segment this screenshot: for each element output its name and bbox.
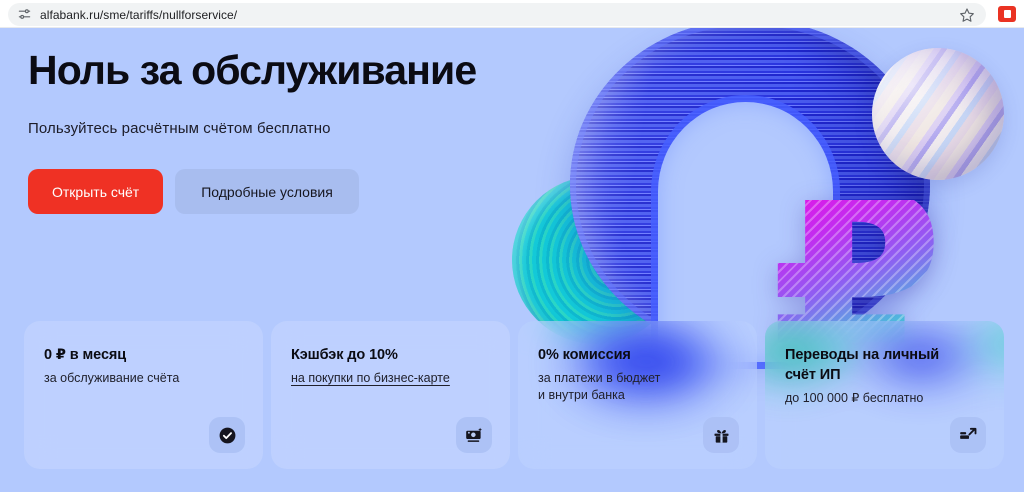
- check-circle-icon[interactable]: [209, 417, 245, 453]
- card-title: 0% комиссия: [538, 345, 737, 365]
- card-subtitle-line1: за платежи в бюджет: [538, 370, 737, 387]
- feature-cards: 0 ₽ в месяц за обслуживание счёта Кэшбэк…: [24, 321, 1004, 469]
- card-title: 0 ₽ в месяц: [44, 345, 243, 365]
- gift-icon[interactable]: [703, 417, 739, 453]
- card-subtitle-link[interactable]: на покупки по бизнес-карте: [291, 370, 490, 387]
- cashback-banknote-icon[interactable]: [456, 417, 492, 453]
- card-title: Кэшбэк до 10%: [291, 345, 490, 365]
- cyan-orb-decoration: [512, 176, 680, 344]
- feature-card-personal-transfers[interactable]: Переводы на личный счёт ИП до 100 000 ₽ …: [765, 321, 1004, 469]
- card-title-line2: счёт ИП: [785, 365, 984, 385]
- page-title: Ноль за обслуживание: [28, 46, 476, 94]
- feature-card-zero-commission[interactable]: 0% комиссия за платежи в бюджет и внутри…: [518, 321, 757, 469]
- transfer-arrow-icon[interactable]: [950, 417, 986, 453]
- card-subtitle: за обслуживание счёта: [44, 370, 243, 387]
- landing-page: ₽ Ноль за обслуживание Пользуйтесь расчё…: [0, 28, 1024, 492]
- browser-chrome: alfabank.ru/sme/tariffs/nullforservice/: [0, 0, 1024, 28]
- card-title-line1: Переводы на личный: [785, 345, 984, 365]
- iridescent-sphere-decoration: [872, 48, 1004, 180]
- feature-card-monthly-fee[interactable]: 0 ₽ в месяц за обслуживание счёта: [24, 321, 263, 469]
- feature-card-cashback[interactable]: Кэшбэк до 10% на покупки по бизнес-карте: [271, 321, 510, 469]
- page-settings-icon[interactable]: [16, 7, 32, 23]
- url-text: alfabank.ru/sme/tariffs/nullforservice/: [40, 8, 958, 22]
- extension-badge-icon[interactable]: [998, 6, 1016, 22]
- detailed-terms-button[interactable]: Подробные условия: [175, 169, 359, 214]
- page-subtitle: Пользуйтесь расчётным счётом бесплатно: [28, 120, 476, 137]
- card-subtitle: до 100 000 ₽ бесплатно: [785, 390, 984, 407]
- address-bar[interactable]: alfabank.ru/sme/tariffs/nullforservice/: [8, 3, 986, 26]
- star-icon[interactable]: [958, 6, 976, 24]
- zero-numeral-decoration: [570, 28, 930, 350]
- open-account-button[interactable]: Открыть счёт: [28, 169, 163, 214]
- zero-outer-ring: [570, 28, 930, 350]
- card-subtitle-line2: и внутри банка: [538, 387, 737, 404]
- cta-row: Открыть счёт Подробные условия: [28, 169, 476, 214]
- hero-copy: Ноль за обслуживание Пользуйтесь расчётн…: [28, 28, 476, 214]
